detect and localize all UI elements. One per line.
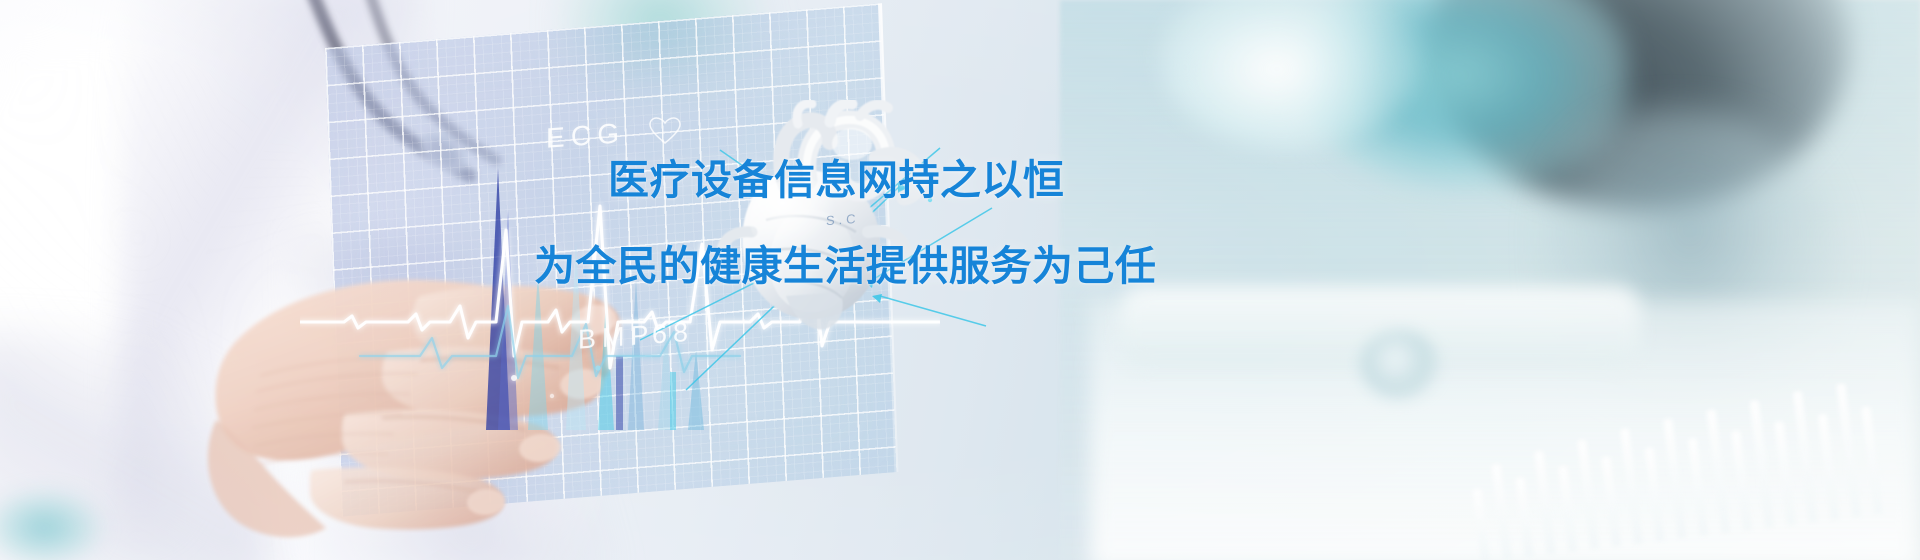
medical-banner: ECG BMP 68 S.C 医疗设备信息网持之以恒 为全民的健康生活提供服务为… [0,0,1920,560]
overall-haze [0,0,1920,560]
